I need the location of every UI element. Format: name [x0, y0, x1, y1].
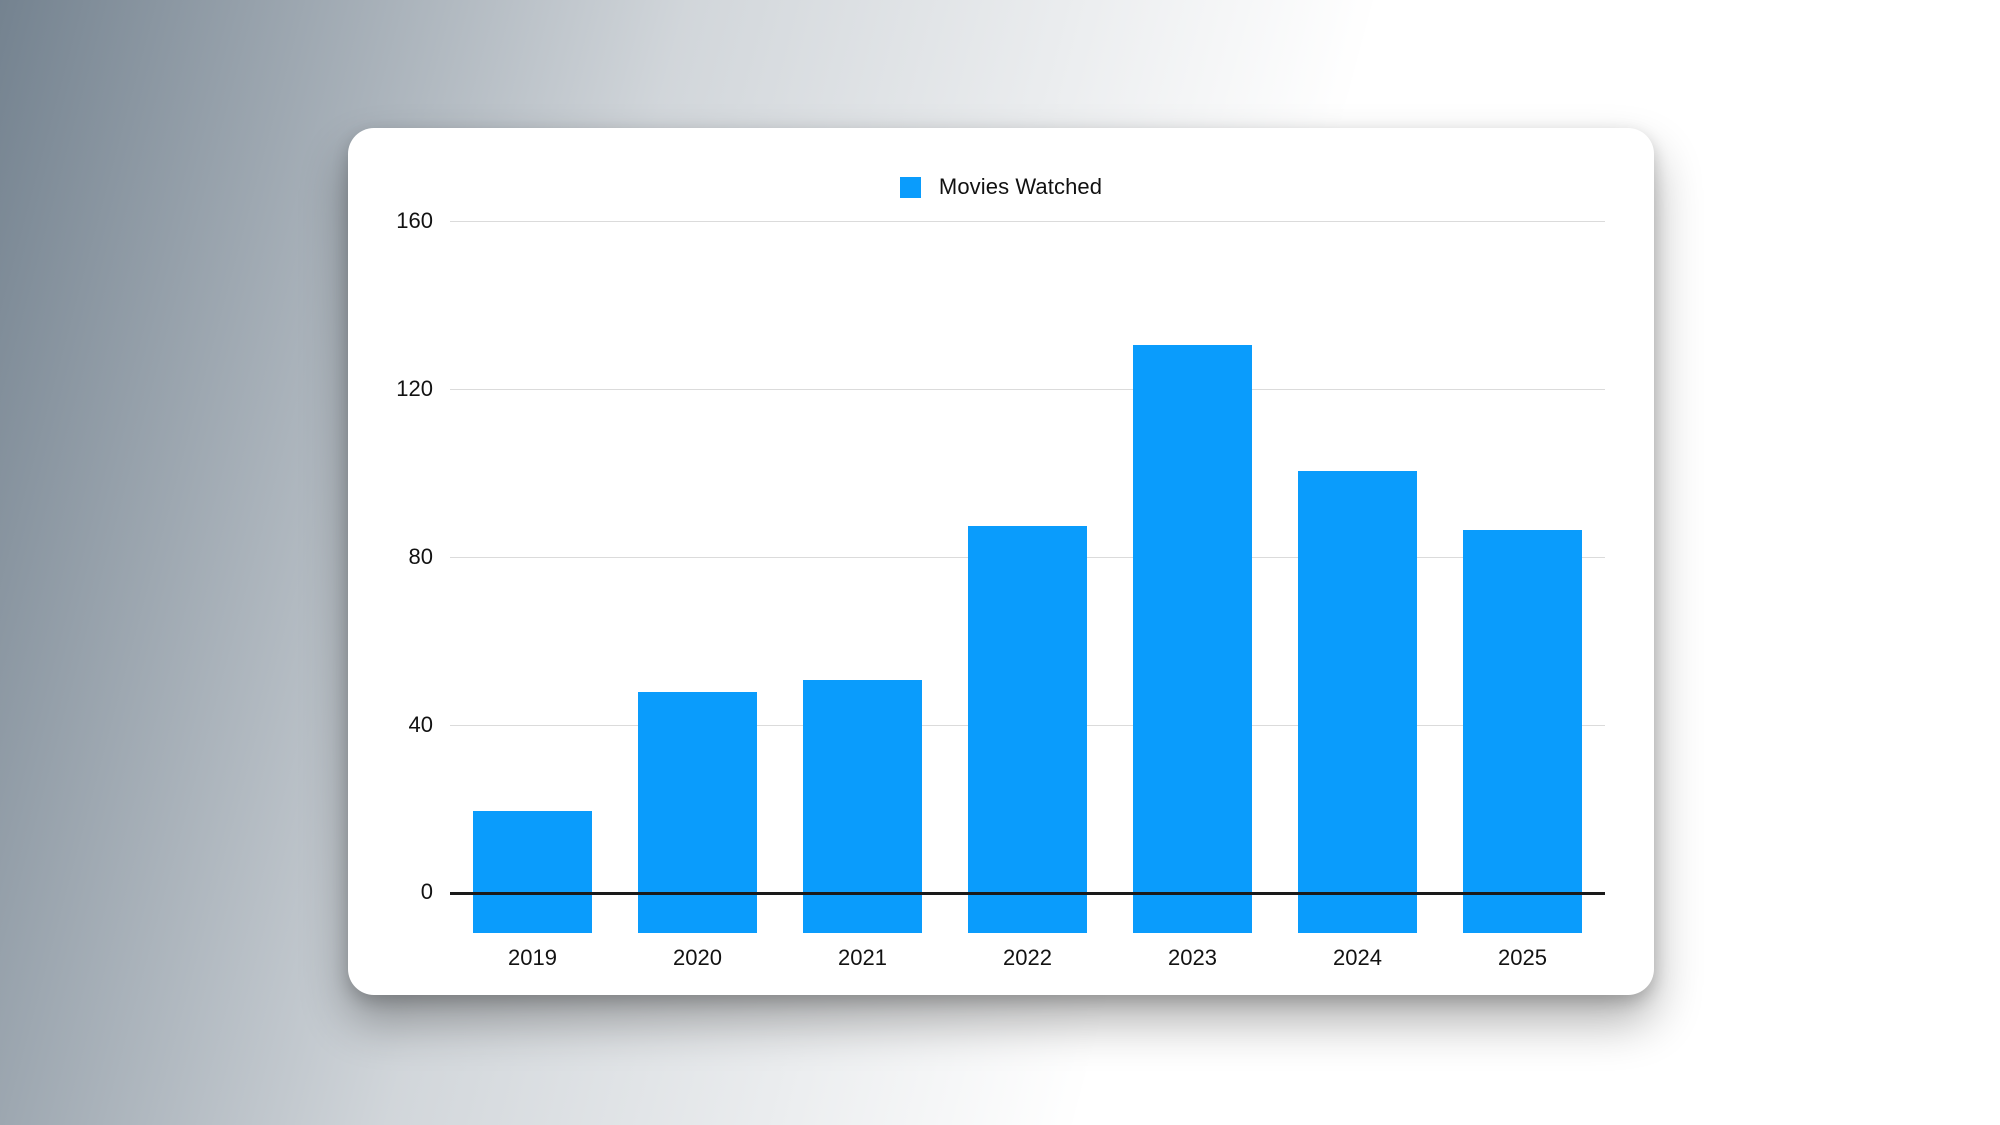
- bar-2023[interactable]: [1133, 345, 1252, 933]
- chart-card: Movies Watched 160 120 80 40 0: [348, 128, 1654, 995]
- x-axis-tick-label-2020: 2020: [615, 933, 780, 971]
- bar-series: [450, 221, 1605, 933]
- y-axis-tick-label: 160: [396, 208, 433, 234]
- bar-slot: [945, 221, 1110, 933]
- bar-2025[interactable]: [1463, 530, 1582, 933]
- bar-2022[interactable]: [968, 526, 1087, 933]
- x-axis-tick-label-2021: 2021: [780, 933, 945, 971]
- bar-slot: [1440, 221, 1605, 933]
- x-axis-line: [450, 892, 1605, 895]
- y-axis-tick-label: 40: [409, 712, 433, 738]
- bar-slot: [450, 221, 615, 933]
- desktop-background: Movies Watched 160 120 80 40 0: [0, 0, 2000, 1125]
- x-axis-tick-label-2024: 2024: [1275, 933, 1440, 971]
- chart-plot-area: 160 120 80 40 0: [373, 221, 1630, 933]
- bar-slot: [1275, 221, 1440, 933]
- x-axis-tick-label-2022: 2022: [945, 933, 1110, 971]
- x-axis-tick-label-2019: 2019: [450, 933, 615, 971]
- bar-slot: [1110, 221, 1275, 933]
- chart-grid-area: [450, 221, 1605, 933]
- bar-slot: [615, 221, 780, 933]
- x-axis-tick-label-2023: 2023: [1110, 933, 1275, 971]
- bar-slot: [780, 221, 945, 933]
- y-axis-tick-label: 80: [409, 544, 433, 570]
- y-axis-tick-label: 0: [421, 879, 433, 905]
- legend-color-swatch: [900, 177, 921, 198]
- bar-2021[interactable]: [803, 680, 922, 933]
- bar-2020[interactable]: [638, 692, 757, 933]
- x-axis-labels: 2019 2020 2021 2022 2023 2024 2025: [450, 933, 1605, 971]
- bar-2019[interactable]: [473, 811, 592, 933]
- y-axis-tick-label: 120: [396, 376, 433, 402]
- chart-legend: Movies Watched: [348, 174, 1654, 200]
- legend-label: Movies Watched: [939, 174, 1102, 200]
- y-axis-labels: 160 120 80 40 0: [373, 221, 433, 933]
- bar-2024[interactable]: [1298, 471, 1417, 933]
- x-axis-tick-label-2025: 2025: [1440, 933, 1605, 971]
